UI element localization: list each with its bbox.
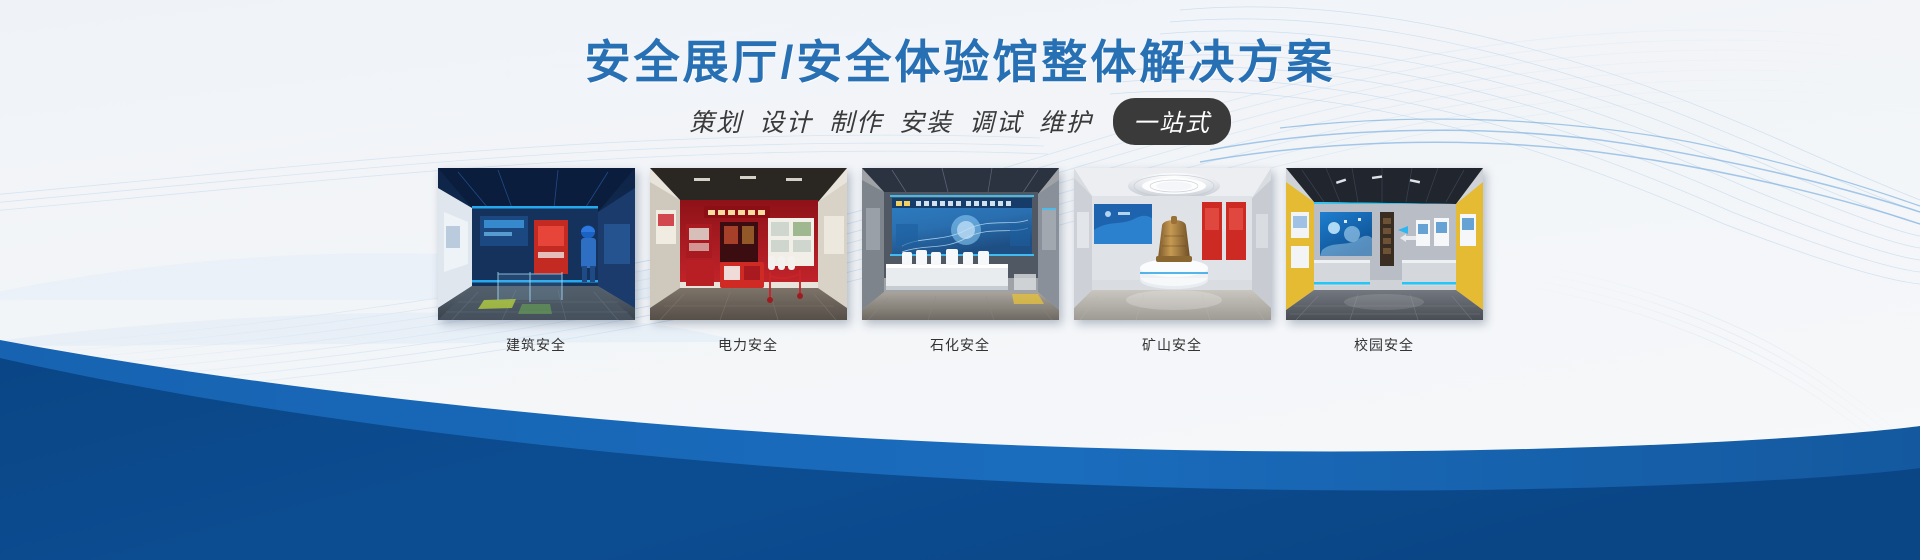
scene-thumbnail-electric-power[interactable] [650, 168, 847, 320]
scene-card-electric-power[interactable]: 电力安全 [650, 168, 847, 355]
scene-thumbnail-mining[interactable] [1074, 168, 1271, 320]
scene-card-mining[interactable]: 矿山安全 [1074, 168, 1271, 355]
scene-card-petrochemical[interactable]: 石化安全 [862, 168, 1059, 355]
subtitle-service-steps: 策划 设计 制作 安装 调试 维护 一站式 [0, 101, 1920, 141]
safety-exhibition-banner: 安全展厅/安全体验馆整体解决方案 策划 设计 制作 安装 调试 维护 一站式 [0, 0, 1920, 560]
scene-card-list: 建筑安全 [0, 168, 1920, 355]
scene-caption-electric-power: 电力安全 [718, 335, 778, 355]
subtitle-word-maintenance: 维护 [1039, 103, 1093, 139]
subtitle-word-planning: 策划 [689, 103, 743, 139]
scene-thumbnail-petrochemical[interactable] [862, 168, 1059, 320]
scene-card-campus[interactable]: 校园安全 [1286, 168, 1483, 355]
subtitle-word-debugging: 调试 [969, 103, 1023, 139]
scene-thumbnail-construction[interactable] [438, 168, 635, 320]
page-title: 安全展厅/安全体验馆整体解决方案 [0, 26, 1920, 92]
scene-thumbnail-campus[interactable] [1286, 168, 1483, 320]
scene-caption-petrochemical: 石化安全 [930, 335, 990, 355]
scene-caption-campus: 校园安全 [1354, 335, 1414, 355]
scene-card-construction[interactable]: 建筑安全 [438, 168, 635, 355]
scene-caption-mining: 矿山安全 [1142, 335, 1202, 355]
subtitle-word-design: 设计 [759, 103, 813, 139]
subtitle-word-installation: 安装 [899, 103, 953, 139]
one-stop-badge: 一站式 [1113, 98, 1231, 145]
subtitle-word-production: 制作 [829, 103, 883, 139]
scene-caption-construction: 建筑安全 [506, 335, 566, 355]
